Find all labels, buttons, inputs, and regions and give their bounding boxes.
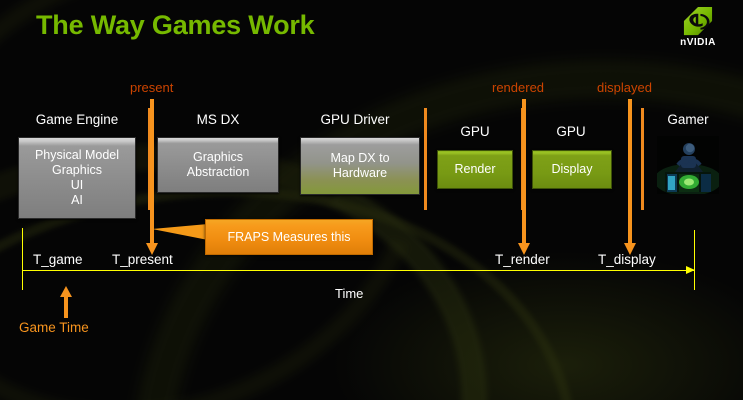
stage-box-gpu-driver: Map DX to Hardware	[300, 137, 420, 195]
timeline-mark-t-game: T_game	[33, 252, 83, 267]
fraps-callout: FRAPS Measures this	[205, 219, 373, 255]
timeline-start-tick	[22, 228, 23, 290]
gamer-photo	[657, 136, 719, 194]
stage-header-ms-dx: MS DX	[173, 112, 263, 127]
stage-box-gpu-render: Render	[437, 150, 513, 189]
timeline-mark-t-present: T_present	[112, 252, 173, 267]
page-title: The Way Games Work	[36, 10, 315, 41]
timeline-axis	[22, 270, 694, 271]
stage-divider	[641, 108, 644, 210]
fraps-callout-tail	[152, 224, 208, 240]
slide-canvas: The Way Games Work nVIDIA present render…	[0, 0, 743, 400]
nvidia-eye-logo-icon	[683, 6, 713, 36]
annotation-rendered: rendered	[492, 80, 544, 95]
nvidia-logo: nVIDIA	[667, 6, 729, 52]
stage-box-game-engine: Physical Model Graphics UI AI	[18, 137, 136, 219]
annotation-displayed: displayed	[597, 80, 652, 95]
annotation-present: present	[130, 80, 173, 95]
rendered-arrow	[518, 99, 530, 255]
stage-header-gamer: Gamer	[653, 112, 723, 127]
timeline-axis-label: Time	[335, 286, 363, 301]
displayed-arrow	[624, 99, 636, 255]
timeline-mark-t-display: T_display	[598, 252, 656, 267]
game-time-label: Game Time	[19, 320, 89, 335]
stage-box-ms-dx: Graphics Abstraction	[157, 137, 279, 193]
timeline-mark-t-render: T_render	[495, 252, 550, 267]
gamer-photo-image	[657, 136, 719, 194]
stage-box-gpu-display: Display	[532, 150, 612, 189]
stage-header-gpu-render: GPU	[440, 124, 510, 139]
stage-header-gpu-driver: GPU Driver	[300, 112, 410, 127]
nvidia-wordmark: nVIDIA	[667, 37, 729, 48]
timeline-end-tick	[694, 230, 695, 290]
stage-header-game-engine: Game Engine	[22, 112, 132, 127]
background-glow	[330, 250, 743, 400]
stage-divider	[424, 108, 427, 210]
timeline-arrowhead-icon	[686, 266, 695, 274]
background-swoosh	[89, 11, 743, 400]
game-time-arrow	[60, 286, 72, 318]
stage-header-gpu-display: GPU	[536, 124, 606, 139]
